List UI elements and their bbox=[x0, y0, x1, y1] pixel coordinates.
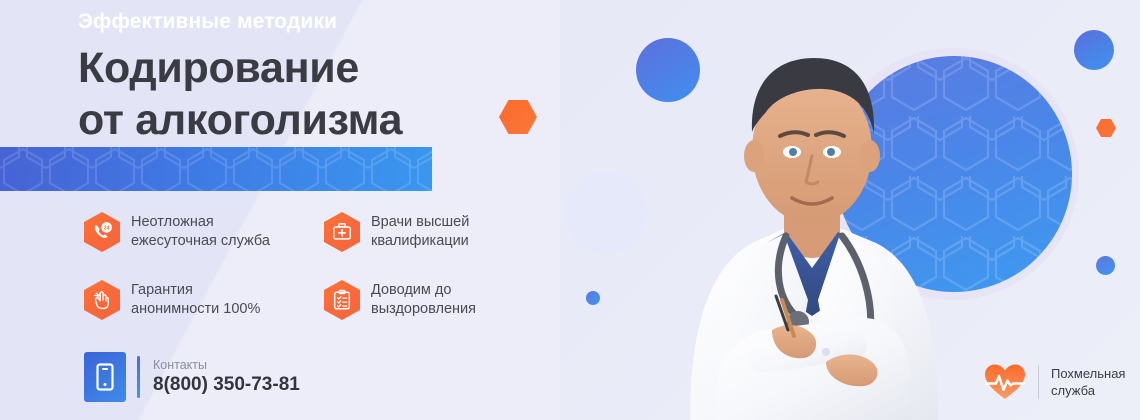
silence-hand-icon bbox=[84, 280, 120, 320]
brand-logo[interactable]: Похмельная служба bbox=[984, 363, 1125, 401]
feature-line-2: выздоровления bbox=[371, 300, 476, 319]
headline-line-2: от алкоголизма bbox=[78, 94, 402, 146]
feature-label: Неотложная ежесуточная служба bbox=[131, 210, 270, 251]
logo-line-1: Похмельная bbox=[1051, 365, 1125, 382]
medical-case-icon bbox=[324, 212, 360, 252]
mobile-phone-icon bbox=[84, 352, 126, 402]
subtitle-text: Эффективные методики bbox=[78, 0, 337, 44]
heart-pulse-icon bbox=[984, 363, 1026, 401]
circle-decoration-right-top bbox=[1074, 30, 1114, 70]
logo-line-2: служба bbox=[1051, 382, 1125, 399]
feature-line-1: Доводим до bbox=[371, 281, 476, 300]
logo-text: Похмельная служба bbox=[1051, 365, 1125, 399]
contacts-label: Контакты bbox=[153, 357, 300, 373]
feature-label: Гарантия анонимности 100% bbox=[131, 278, 260, 319]
subtitle-bar bbox=[0, 147, 432, 191]
feature-line-2: анонимности 100% bbox=[131, 300, 260, 319]
logo-divider bbox=[1038, 365, 1039, 399]
clipboard-checklist-icon bbox=[324, 280, 360, 320]
contacts-text: Контакты 8(800) 350-73-81 bbox=[153, 357, 300, 397]
dot-decoration-right-bottom bbox=[1096, 256, 1115, 275]
svg-text:24: 24 bbox=[104, 226, 110, 232]
phone-24h-icon: 24 bbox=[84, 212, 120, 252]
feature-line-1: Неотложная bbox=[131, 213, 270, 232]
honeycomb-pattern-icon bbox=[0, 147, 432, 191]
contacts-block[interactable]: Контакты 8(800) 350-73-81 bbox=[84, 352, 300, 402]
feature-item-recovery: Доводим до выздоровления bbox=[324, 278, 534, 346]
promo-banner: Кодирование от алкоголизма Эффективные м… bbox=[0, 0, 1140, 420]
feature-item-qualified-doctors: Врачи высшей квалификации bbox=[324, 210, 534, 278]
doctor-photo bbox=[540, 0, 1060, 420]
feature-list: 24 Неотложная ежесуточная служба Врачи в… bbox=[84, 210, 534, 346]
feature-line-2: квалификации bbox=[371, 232, 469, 251]
feature-line-2: ежесуточная служба bbox=[131, 232, 270, 251]
feature-line-1: Врачи высшей bbox=[371, 213, 469, 232]
feature-line-1: Гарантия bbox=[131, 281, 260, 300]
feature-label: Доводим до выздоровления bbox=[371, 278, 476, 319]
feature-item-anonymity: Гарантия анонимности 100% bbox=[84, 278, 324, 346]
contacts-divider bbox=[137, 356, 140, 398]
headline-line-1: Кодирование bbox=[78, 42, 402, 94]
contacts-phone-number[interactable]: 8(800) 350-73-81 bbox=[153, 373, 300, 397]
feature-item-emergency: 24 Неотложная ежесуточная служба bbox=[84, 210, 324, 278]
page-title: Кодирование от алкоголизма bbox=[78, 42, 402, 146]
feature-label: Врачи высшей квалификации bbox=[371, 210, 469, 251]
